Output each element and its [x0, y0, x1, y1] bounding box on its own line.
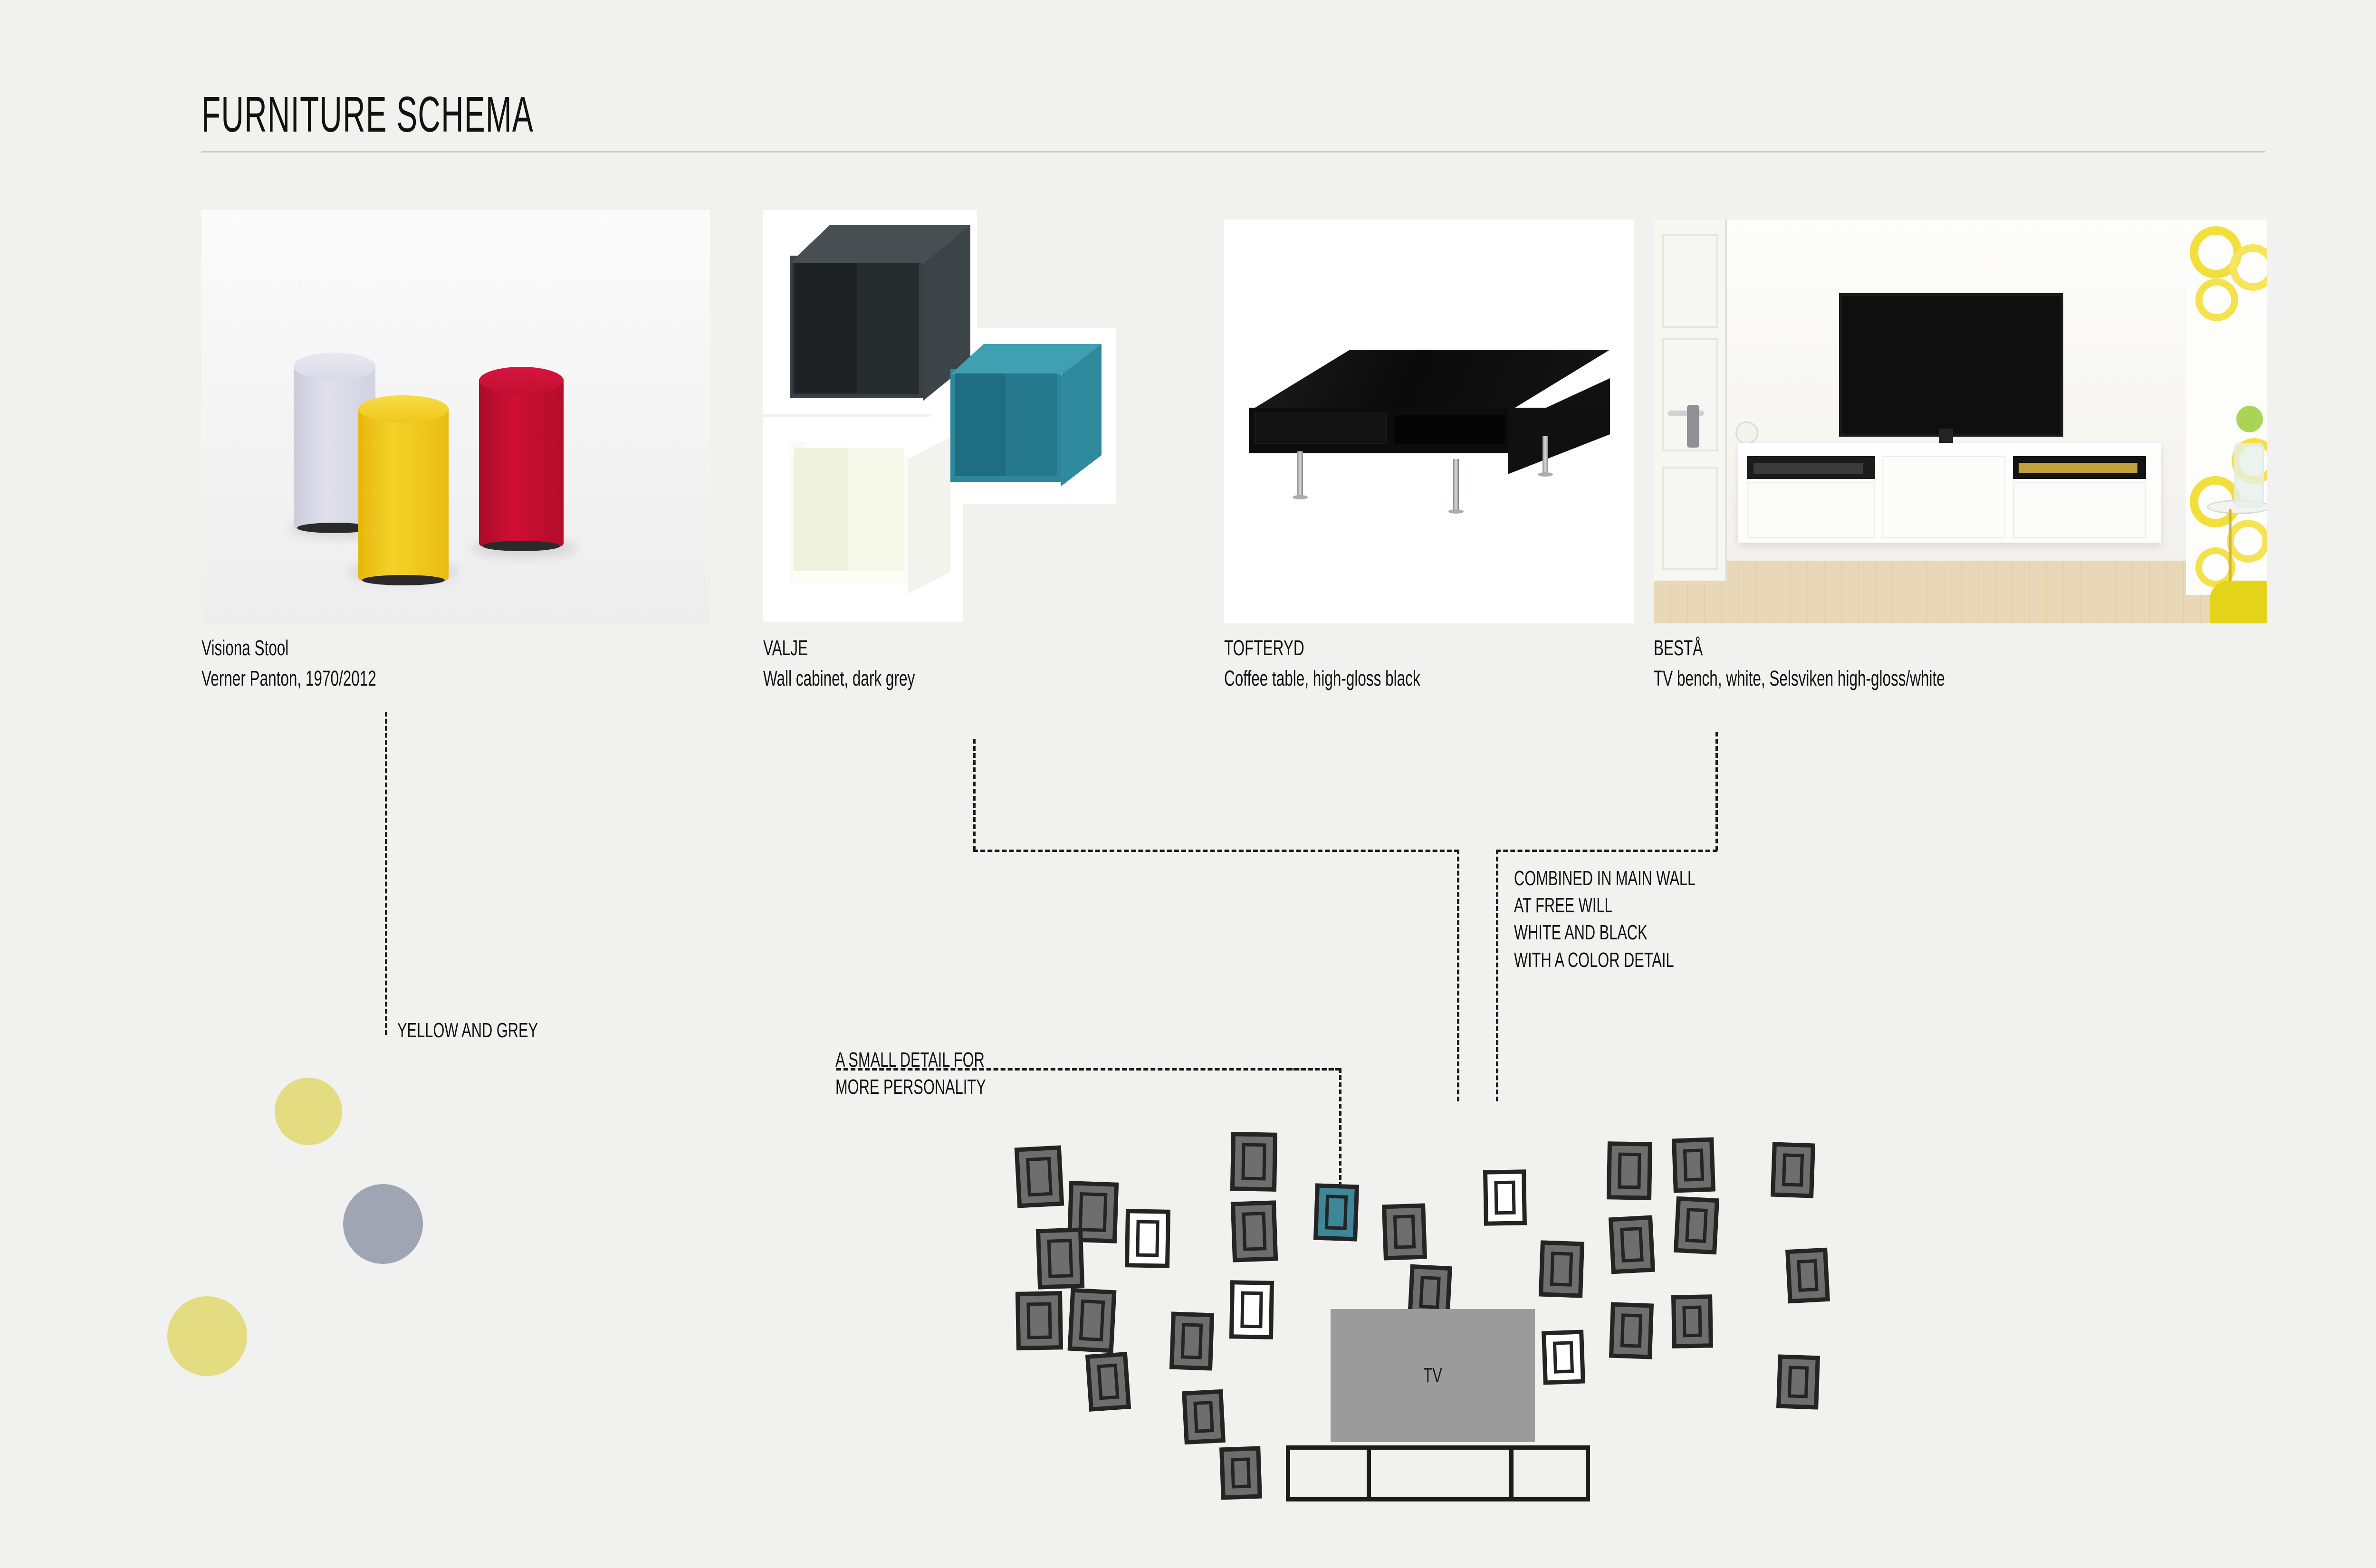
product-desc: Coffee table, high-gloss black	[1224, 663, 1420, 694]
frame-mat	[1242, 1212, 1267, 1251]
caption-besta: BESTÅ TV bench, white, Selsviken high-gl…	[1654, 633, 1945, 694]
connector-stool-vertical	[385, 712, 387, 1035]
frame-mat	[1231, 1457, 1251, 1488]
picture-frame[interactable]	[1607, 1141, 1652, 1200]
frame-mat	[1618, 1153, 1641, 1189]
product-desc: Wall cabinet, dark grey	[763, 663, 915, 694]
product-name: BESTÅ	[1654, 633, 1945, 663]
frame-mat	[1685, 1208, 1708, 1243]
frame-mat	[1682, 1306, 1702, 1338]
cube-teal	[948, 344, 1104, 487]
caption-tofteryd: TOFTERYD Coffee table, high-gloss black	[1224, 633, 1420, 694]
yellow-swatch-2	[167, 1296, 247, 1376]
picture-frame[interactable]	[1483, 1169, 1527, 1226]
picture-frame[interactable]	[1125, 1209, 1170, 1268]
stools-photo	[201, 210, 710, 623]
picture-frame[interactable]	[1169, 1311, 1214, 1370]
picture-frame[interactable]	[1539, 1240, 1584, 1298]
annotation-combined-main-wall: COMBINED IN MAIN WALL AT FREE WILL WHITE…	[1514, 865, 1696, 974]
annotation-yellow-and-grey: YELLOW AND GREY	[397, 1017, 538, 1044]
picture-frame[interactable]	[1016, 1291, 1063, 1350]
frame-mat	[1136, 1220, 1159, 1257]
tv-bench-room-photo	[1654, 220, 2267, 623]
picture-frame[interactable]	[1771, 1142, 1815, 1198]
connector-besta-horizontal	[1496, 850, 1717, 852]
product-name: Visiona Stool	[201, 633, 376, 663]
frame-mat	[1620, 1313, 1642, 1348]
frame-mat	[1797, 1259, 1818, 1292]
cube-dark-grey	[786, 225, 971, 401]
product-name: VALJE	[763, 633, 915, 663]
frame-mat	[1788, 1366, 1809, 1398]
picture-frame[interactable]	[1015, 1146, 1064, 1208]
frame-mat	[1079, 1192, 1108, 1232]
frame-mat	[1620, 1227, 1644, 1262]
picture-frame[interactable]	[1067, 1181, 1119, 1243]
picture-frame[interactable]	[1085, 1352, 1131, 1412]
product-card-besta[interactable]: BESTÅ TV bench, white, Selsviken high-gl…	[1654, 220, 2271, 623]
stool-yellow	[358, 395, 449, 581]
tv-placeholder: TV	[1331, 1309, 1535, 1442]
bench-segment[interactable]	[1514, 1450, 1594, 1497]
connector-detail-vertical	[1339, 1068, 1341, 1194]
coffee-table-photo	[1224, 220, 1634, 623]
frame-mat	[1241, 1143, 1266, 1181]
title-divider	[201, 151, 2265, 153]
picture-frame[interactable]	[1219, 1446, 1262, 1500]
annotation-small-detail: A SMALL DETAIL FOR MORE PERSONALITY	[835, 1046, 986, 1100]
connector-detail-elbow	[1288, 1068, 1340, 1071]
picture-frame[interactable]	[1776, 1354, 1820, 1409]
connector-valje-horizontal	[973, 850, 1459, 852]
frame-mat	[1026, 1302, 1052, 1339]
frame-mat	[1325, 1195, 1348, 1230]
frame-mat	[1097, 1364, 1119, 1400]
picture-frame[interactable]	[1230, 1132, 1277, 1192]
bench-segment[interactable]	[1371, 1450, 1514, 1497]
frame-mat	[1683, 1148, 1704, 1181]
frame-mat	[1026, 1157, 1053, 1197]
grey-swatch	[343, 1184, 423, 1264]
coffee-table-shape	[1249, 350, 1610, 511]
connector-valje-vertical	[973, 739, 976, 851]
frame-mat	[1193, 1401, 1214, 1433]
picture-frame[interactable]	[1785, 1248, 1830, 1303]
picture-frame[interactable]	[1231, 1200, 1278, 1262]
connector-valje-down-to-frame	[1457, 850, 1459, 1101]
frame-mat	[1553, 1341, 1574, 1373]
frame-mat	[1550, 1252, 1573, 1287]
product-name: TOFTERYD	[1224, 633, 1420, 663]
product-desc: Verner Panton, 1970/2012	[201, 663, 376, 694]
caption-valje: VALJE Wall cabinet, dark grey	[763, 633, 915, 694]
picture-frame[interactable]	[1609, 1302, 1654, 1359]
frame-mat	[1079, 1300, 1105, 1341]
caption-visiona-stool: Visiona Stool Verner Panton, 1970/2012	[201, 633, 376, 694]
picture-frame[interactable]	[1672, 1137, 1715, 1193]
connector-besta-vertical	[1496, 850, 1498, 1101]
frame-mat	[1494, 1181, 1515, 1215]
bench-segment[interactable]	[1290, 1450, 1371, 1497]
frame-mat	[1240, 1291, 1263, 1329]
product-card-tofteryd[interactable]: TOFTERYD Coffee table, high-gloss black	[1224, 220, 1642, 623]
page-title: FURNITURE SCHEMA	[201, 89, 534, 140]
picture-frame[interactable]	[1382, 1203, 1427, 1260]
furniture-schema-board: FURNITURE SCHEMA	[0, 0, 2376, 1568]
picture-frame[interactable]	[1068, 1288, 1117, 1353]
picture-frame[interactable]	[1313, 1183, 1359, 1241]
frame-mat	[1181, 1323, 1203, 1359]
cube-white	[786, 437, 952, 594]
yellow-swatch-1	[275, 1078, 342, 1145]
tv-bench-plan[interactable]	[1286, 1445, 1590, 1501]
connector-tofteryd-vertical	[1715, 732, 1718, 851]
product-card-visiona-stool[interactable]: Visiona Stool Verner Panton, 1970/2012	[201, 210, 710, 623]
picture-frame[interactable]	[1674, 1196, 1719, 1255]
picture-frame[interactable]	[1542, 1329, 1585, 1385]
frame-mat	[1047, 1239, 1073, 1278]
picture-frame[interactable]	[1182, 1389, 1226, 1444]
frame-mat	[1782, 1153, 1804, 1186]
stool-red	[479, 367, 564, 546]
picture-frame[interactable]	[1671, 1294, 1713, 1348]
frame-mat	[1419, 1276, 1441, 1309]
picture-frame[interactable]	[1609, 1215, 1655, 1274]
product-card-valje[interactable]: VALJE Wall cabinet, dark grey	[763, 210, 1162, 623]
tv-label: TV	[1423, 1364, 1442, 1387]
frame-mat	[1393, 1214, 1416, 1249]
product-desc: TV bench, white, Selsviken high-gloss/wh…	[1654, 663, 1945, 694]
picture-frame[interactable]	[1229, 1280, 1274, 1339]
picture-frame[interactable]	[1036, 1227, 1084, 1289]
